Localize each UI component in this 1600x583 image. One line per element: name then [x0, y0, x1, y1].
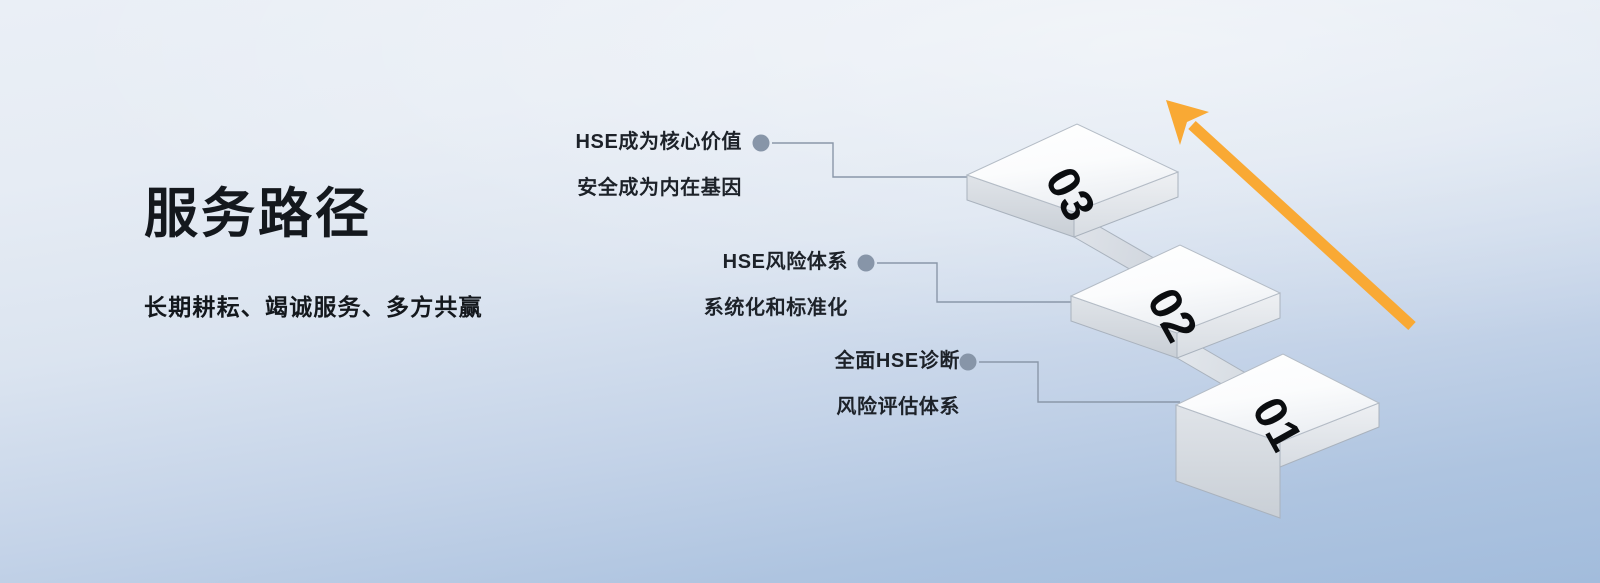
annotation-01-line-1: 全面HSE诊断 — [600, 351, 960, 371]
annotation-02-line-1: HSE风险体系 — [480, 252, 848, 272]
annotation-step-03: HSE成为核心价值 安全成为内在基因 — [360, 132, 742, 198]
annotation-03-line-2: 安全成为内在基因 — [360, 178, 742, 198]
annotation-02-line-2: 系统化和标准化 — [480, 298, 848, 318]
annotation-03-line-1: HSE成为核心价值 — [360, 132, 742, 152]
slide-canvas: 服务路径 长期耕耘、竭诚服务、多方共赢 — [0, 0, 1600, 583]
step-block-01[interactable]: 01 — [1176, 354, 1379, 518]
annotation-step-02: HSE风险体系 系统化和标准化 — [480, 252, 848, 318]
annotation-01-line-2: 风险评估体系 — [600, 397, 960, 417]
annotation-step-01: 全面HSE诊断 风险评估体系 — [600, 351, 960, 417]
